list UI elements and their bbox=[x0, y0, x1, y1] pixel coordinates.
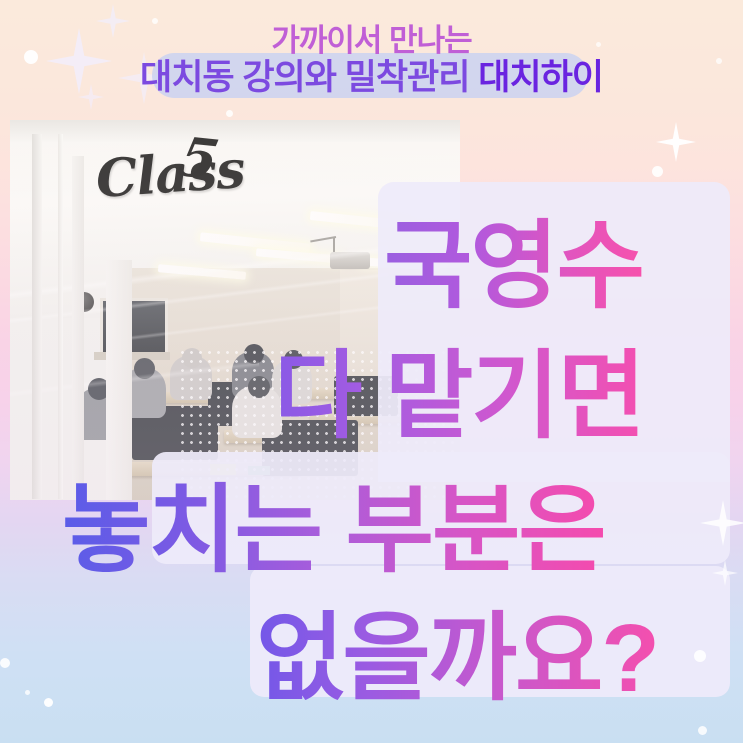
headline-line-4: 없을까요? bbox=[256, 580, 658, 719]
headline-line-2: 다 맡기면 bbox=[274, 318, 644, 457]
headline-line-1: 국영수 bbox=[384, 188, 643, 327]
headline-block: 국영수 다 맡기면 놓치는 부분은 없을까요? bbox=[0, 0, 743, 743]
headline-line-3: 놓치는 부분은 bbox=[62, 452, 605, 591]
poster-canvas: 가까이서 만나는 대치동 강의와 밀착관리 대치하이 bbox=[0, 0, 743, 743]
